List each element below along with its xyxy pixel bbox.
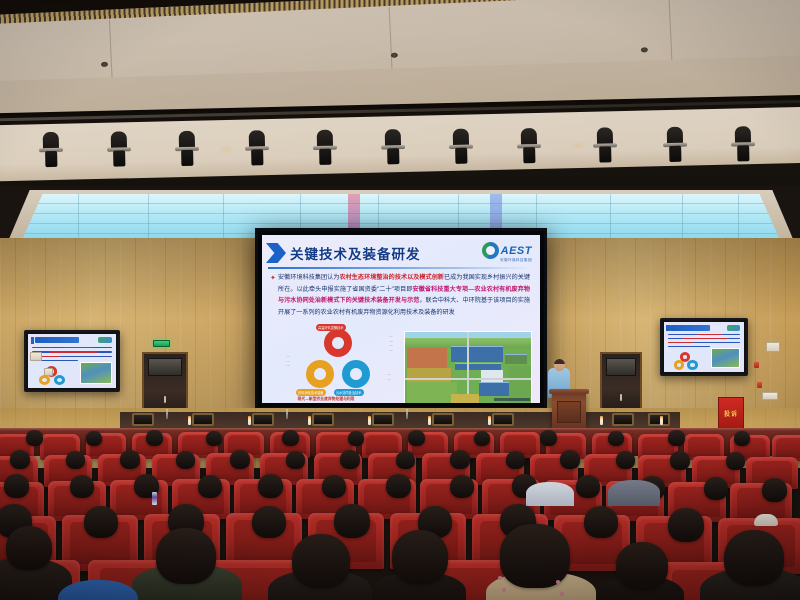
infographic-label-left: 厌氧消化技术装备 [296, 389, 326, 396]
audience-head [26, 430, 43, 446]
body-seg-1: 农村生态环境整治的技术以及模式创新 [339, 274, 444, 281]
audience-head [156, 528, 216, 584]
door-handle-icon [164, 396, 166, 403]
head-table-chair [648, 413, 670, 426]
slide-infographic: 高温好氧发酵技术 厌氧消化技术装备 污水协同处治技术 ········· ···… [276, 327, 404, 403]
alarm-button-icon[interactable] [754, 362, 759, 368]
infographic-note-right: ············ [378, 335, 404, 353]
infographic-note-right2: ······ [376, 373, 402, 382]
stage-spotlight-icon [664, 127, 687, 167]
wall-control-panel[interactable] [766, 342, 780, 352]
ceiling-downlight-icon [391, 53, 398, 58]
body-seg-0: 安徽环境科技集团认为 [278, 274, 339, 281]
audience-head [474, 431, 490, 446]
water-bottle-icon [188, 416, 191, 425]
infographic-caption: 现代—新型农业废弃物处理与利用 [276, 397, 376, 402]
audience-head [322, 475, 346, 498]
head-table-chair [372, 413, 394, 426]
audience-head [258, 474, 283, 498]
aest-logo-mark-icon [482, 242, 499, 259]
infographic-node-left [306, 360, 334, 388]
infographic-label-top: 高温好氧发酵技术 [316, 324, 346, 331]
audience-head [286, 451, 305, 469]
audience-head [540, 430, 557, 446]
audience-head [408, 430, 425, 446]
audience-head [206, 431, 222, 446]
audience-head [4, 474, 29, 498]
hair-tie-icon [560, 592, 564, 596]
audience-head [6, 526, 52, 570]
company-logo: AEST [482, 242, 532, 259]
audience-head [176, 451, 195, 469]
audience-head [616, 542, 668, 590]
audience-head [292, 534, 350, 588]
audience-head [668, 508, 704, 542]
slide-title: 关键技术及装备研发 [290, 243, 421, 263]
slide-aerial-photo [404, 331, 532, 403]
audience-head [576, 475, 600, 498]
water-bottle-icon [428, 416, 431, 425]
audience-head [70, 475, 94, 498]
side-monitor-left-content [28, 334, 116, 388]
audience-head [724, 530, 784, 586]
side-monitor-left [24, 330, 120, 392]
water-bottle-icon [660, 416, 663, 425]
side-monitor-right [660, 318, 748, 376]
stage-spotlight-icon [382, 129, 405, 169]
audience-head [10, 450, 30, 469]
suggestion-box: 投诉 [718, 397, 744, 429]
head-table-chair [432, 413, 454, 426]
audience-head [348, 431, 364, 446]
audience-head [120, 450, 140, 469]
stage-spotlight-icon [40, 132, 63, 172]
audience-head [668, 430, 685, 446]
door-handle-icon [620, 394, 622, 401]
audience-head [146, 430, 163, 446]
infographic-node-right [342, 360, 370, 388]
audience-head [86, 431, 102, 446]
stage-spotlight-icon [450, 128, 473, 168]
alarm-button-icon[interactable] [757, 382, 762, 388]
presentation-slide: 关键技术及装备研发 AEST 安徽环境科技集团 ✦ 安徽环境科技集团认为农村生态… [262, 235, 540, 403]
wall-speaker-left [30, 352, 42, 361]
table-microphone-icon [406, 409, 408, 419]
door-right[interactable] [600, 352, 642, 414]
hair-tie-icon [556, 580, 560, 584]
stage-spotlight-icon [176, 131, 199, 171]
body-seg-3: 此牵头申报实施了省国资委"二十"项目即 [303, 286, 413, 293]
audience-head [396, 451, 415, 469]
stage-spotlight-icon [732, 126, 755, 166]
audience-head [506, 451, 525, 469]
audience-shoulders [608, 480, 660, 506]
wall-outlet-panel[interactable] [762, 392, 778, 400]
speaker-head [554, 359, 565, 371]
water-bottle-icon [152, 492, 157, 505]
stage-spotlight-icon [108, 131, 131, 171]
stage-spotlight-icon [518, 128, 541, 168]
infographic-note-left: ········· [276, 355, 300, 369]
audience-seating [0, 430, 800, 600]
exit-sign-left [153, 340, 170, 347]
water-bottle-icon [600, 416, 603, 425]
audience-head [392, 530, 448, 584]
audience-head [726, 452, 745, 470]
main-led-screen: 关键技术及装备研发 AEST 安徽环境科技集团 ✦ 安徽环境科技集团认为农村生态… [255, 228, 547, 410]
aerial-photo-caption-bar [494, 398, 530, 401]
stage-spotlight-icon [594, 127, 617, 167]
ceiling-downlight-icon [101, 62, 108, 67]
water-bottle-icon [368, 416, 371, 425]
audience-head [252, 506, 286, 538]
audience-head [66, 451, 85, 469]
hair-tie-icon [498, 576, 502, 580]
head-table-chair [252, 413, 274, 426]
audience-head [560, 450, 580, 469]
audience-cap-icon [754, 514, 778, 526]
audience-head [340, 450, 360, 469]
infographic-label-right: 污水协同处治技术 [334, 389, 364, 396]
auditorium-photo: 关键技术及装备研发 AEST 安徽环境科技集团 ✦ 安徽环境科技集团认为农村生态… [0, 0, 800, 600]
audience-head [84, 506, 118, 538]
audience-head [670, 451, 690, 470]
stage-spotlight-icon [246, 130, 269, 170]
table-microphone-icon [166, 409, 168, 419]
audience-head [450, 475, 474, 498]
company-logo-text: AEST [501, 245, 532, 257]
water-bottle-icon [248, 416, 251, 425]
head-table-chair [192, 413, 214, 426]
audience-head [704, 477, 728, 500]
head-table-chair [132, 413, 154, 426]
table-microphone-icon [286, 409, 288, 419]
suggestion-box-label: 投诉 [724, 409, 738, 418]
wall-sensor-left [44, 368, 53, 376]
head-table-chair [312, 413, 334, 426]
audience-head [762, 478, 787, 502]
side-monitor-right-content [664, 322, 744, 372]
audience-head [584, 506, 618, 538]
audience-head [282, 430, 299, 446]
head-table-chair [492, 413, 514, 426]
audience-head [386, 474, 411, 498]
audience-head [608, 431, 624, 446]
audience-head [230, 450, 250, 469]
audience-head [450, 450, 470, 469]
company-logo-subtext: 安徽环境科技集团 [500, 258, 532, 263]
head-table-chair [612, 413, 634, 426]
audience-head [734, 431, 750, 446]
water-bottle-icon [488, 416, 491, 425]
audience-head [616, 451, 635, 469]
audience-head [334, 504, 370, 538]
bullet-marker-icon: ✦ [270, 276, 275, 281]
audience-shoulders [526, 482, 574, 506]
ceiling-downlight-icon [641, 47, 648, 52]
hair-tie-icon [502, 588, 506, 592]
slide-title-underline [268, 267, 532, 269]
audience-head-braided [500, 524, 570, 588]
chevron-right-icon [266, 243, 286, 263]
stage-spotlight-icon [314, 130, 337, 170]
infographic-node-top [324, 329, 352, 357]
water-bottle-icon [308, 416, 311, 425]
slide-body-text: 安徽环境科技集团认为农村生态环境整治的技术以及模式创新已成为我国实现乡村振兴的关… [278, 272, 530, 318]
audience-head [198, 475, 222, 498]
